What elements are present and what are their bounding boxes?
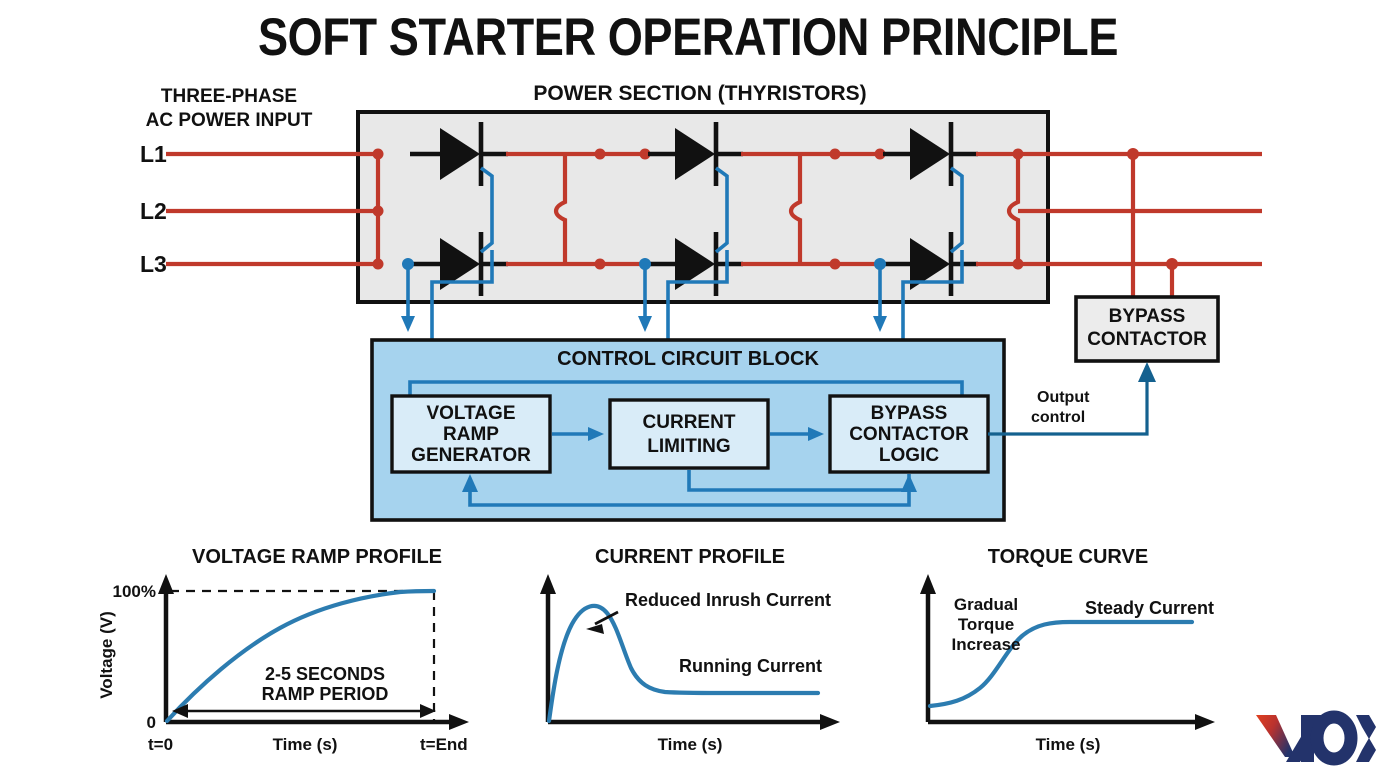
chart-title-current-profile: CURRENT PROFILE xyxy=(595,546,785,568)
page-title: SOFT STARTER OPERATION PRINCIPLE xyxy=(258,8,1118,67)
bypass-logic-line2: CONTACTOR xyxy=(849,424,969,445)
bypass-contactor-label-line2: CONTACTOR xyxy=(1087,329,1207,350)
annotation-gradual-line3: Increase xyxy=(952,635,1021,654)
bypass-contactor[interactable]: BYPASS CONTACTOR xyxy=(1076,297,1218,361)
ramp-period-line2: RAMP PERIOD xyxy=(262,684,389,704)
chart-title-torque-curve: TORQUE CURVE xyxy=(988,546,1148,568)
ytick-0: 0 xyxy=(147,713,156,732)
diagram-canvas: SOFT STARTER OPERATION PRINCIPLE THREE-P… xyxy=(0,0,1376,768)
voltage-ramp-generator-line1: VOLTAGE xyxy=(426,403,515,424)
xtick-t0: t=0 xyxy=(148,735,173,754)
voltage-ramp-generator-line3: GENERATOR xyxy=(411,445,531,466)
xlabel-current-profile: Time (s) xyxy=(658,735,723,754)
annotation-running-current: Running Current xyxy=(679,656,822,676)
chart-title-voltage-ramp: VOLTAGE RAMP PROFILE xyxy=(192,546,442,568)
chart-voltage-ramp-profile: VOLTAGE RAMP PROFILE 100% 0 t=0 t=End Ti… xyxy=(97,546,469,754)
input-label-line2: AC POWER INPUT xyxy=(146,110,313,131)
chart-torque-curve: TORQUE CURVE Gradual Torque Increase Ste… xyxy=(920,546,1215,754)
bypass-logic-line1: BYPASS xyxy=(871,403,948,424)
output-control-label-line2: control xyxy=(1031,409,1085,426)
control-circuit-title: CONTROL CIRCUIT BLOCK xyxy=(557,348,819,370)
voltage-ramp-generator-block[interactable]: VOLTAGE RAMP GENERATOR xyxy=(392,396,550,472)
annotation-reduced-inrush: Reduced Inrush Current xyxy=(625,590,831,610)
bypass-contactor-logic-block[interactable]: BYPASS CONTACTOR LOGIC xyxy=(830,396,988,472)
current-limiting-block[interactable]: CURRENT LIMITING xyxy=(610,400,768,468)
output-control-label-line1: Output xyxy=(1037,389,1090,406)
bypass-contactor-label-line1: BYPASS xyxy=(1109,306,1186,327)
viox-logo xyxy=(1256,715,1376,762)
annotation-steady-current: Steady Current xyxy=(1085,598,1214,618)
xtick-tend: t=End xyxy=(420,735,468,754)
ytick-100: 100% xyxy=(113,582,156,601)
annotation-gradual-line2: Torque xyxy=(958,615,1014,634)
xlabel-torque-curve: Time (s) xyxy=(1036,735,1101,754)
current-limiting-line1: CURRENT xyxy=(643,412,736,433)
phase-label-l3: L3 xyxy=(140,251,167,277)
power-input-lines xyxy=(166,149,384,270)
phase-label-l2: L2 xyxy=(140,198,167,224)
annotation-gradual-line1: Gradual xyxy=(954,595,1018,614)
xlabel-voltage-ramp: Time (s) xyxy=(273,735,338,754)
voltage-ramp-generator-line2: RAMP xyxy=(443,424,499,445)
chart-current-profile: CURRENT PROFILE Reduced Inrush Current R… xyxy=(540,546,840,754)
ramp-period-line1: 2-5 SECONDS xyxy=(265,664,385,684)
current-limiting-line2: LIMITING xyxy=(647,436,730,457)
ylabel-voltage-ramp: Voltage (V) xyxy=(97,611,116,699)
input-label-line1: THREE-PHASE xyxy=(161,86,297,107)
bypass-logic-line3: LOGIC xyxy=(879,445,939,466)
phase-label-l1: L1 xyxy=(140,141,167,167)
output-control: Output control xyxy=(988,362,1156,434)
power-section-title: POWER SECTION (THYRISTORS) xyxy=(533,82,866,105)
